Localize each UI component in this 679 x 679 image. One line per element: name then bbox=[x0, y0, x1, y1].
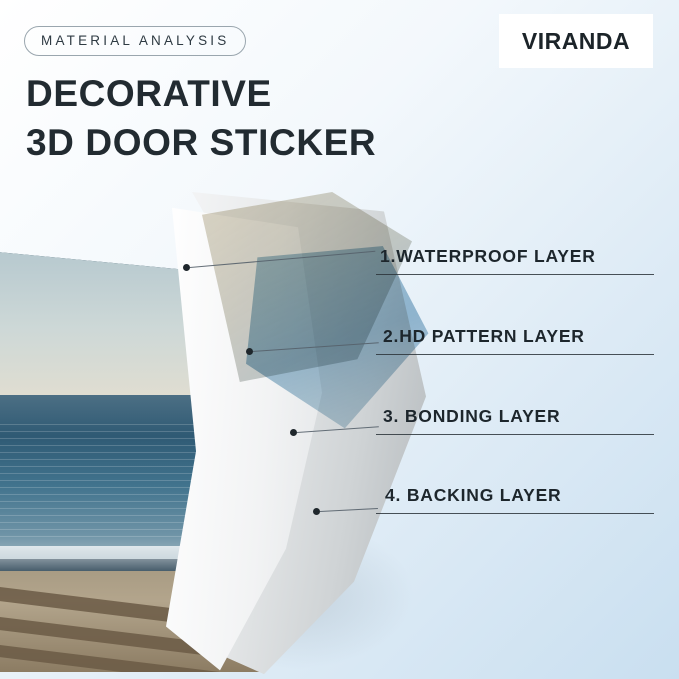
product-illustration bbox=[0, 190, 679, 679]
page-title-line1: DECORATIVE bbox=[26, 73, 272, 114]
peel-sheet bbox=[180, 192, 480, 679]
poster-canvas: MATERIAL ANALYSIS VIRANDA DECORATIVE 3D … bbox=[0, 0, 679, 679]
page-title: DECORATIVE 3D DOOR STICKER bbox=[26, 70, 376, 168]
material-analysis-badge: MATERIAL ANALYSIS bbox=[24, 26, 246, 56]
page-title-line2: 3D DOOR STICKER bbox=[26, 119, 376, 168]
brand-name: VIRANDA bbox=[522, 28, 630, 55]
brand-logo-box: VIRANDA bbox=[499, 14, 653, 68]
